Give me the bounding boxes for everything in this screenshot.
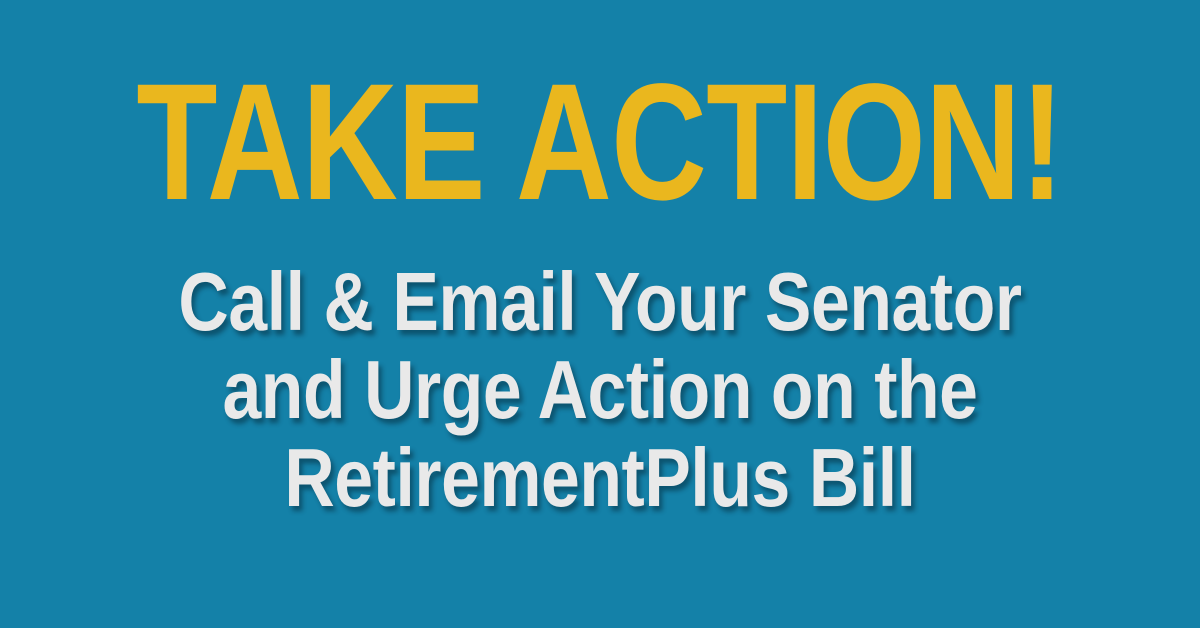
subhead-line-2: and Urge Action on the: [96, 346, 1104, 434]
poster-content: TAKE ACTION! Call & Email Your Senator a…: [0, 0, 1200, 628]
subhead-line-1: Call & Email Your Senator: [96, 258, 1104, 346]
subhead-line-3: RetirementPlus Bill: [96, 434, 1104, 522]
subhead-block: Call & Email Your Senator and Urge Actio…: [96, 258, 1104, 522]
action-alert-poster: TAKE ACTION! Call & Email Your Senator a…: [0, 0, 1200, 628]
headline-take-action: TAKE ACTION!: [120, 60, 1080, 226]
